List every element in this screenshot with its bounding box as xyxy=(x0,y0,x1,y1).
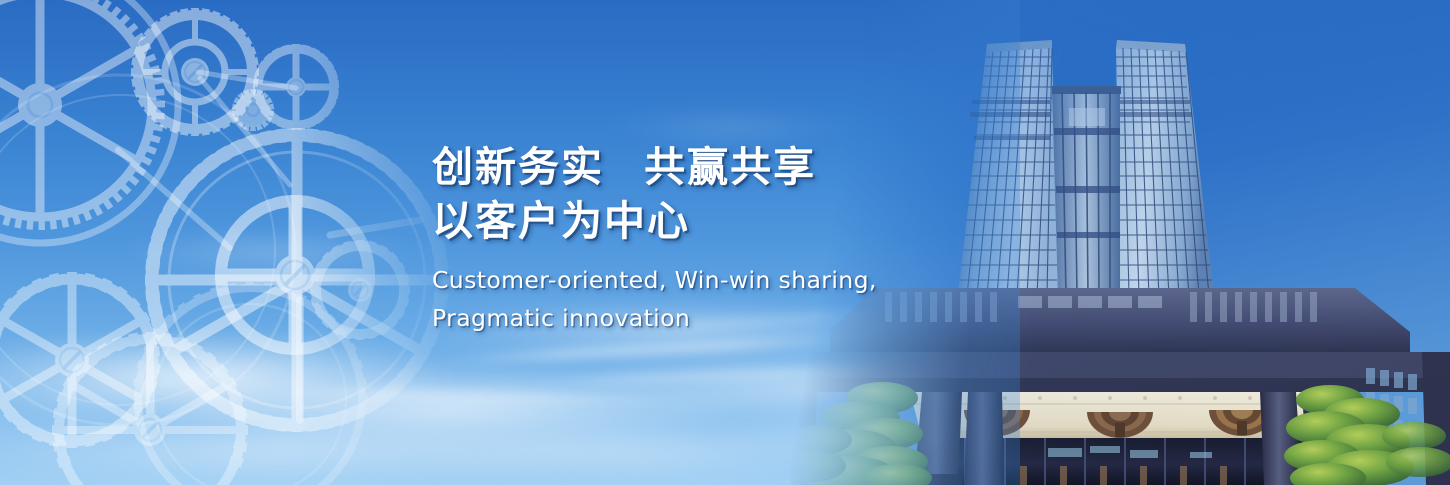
english-subtitle: Customer-oriented, Win-win sharing, Prag… xyxy=(432,261,952,337)
slogan-block: 创新务实 共赢共享 以客户为中心 Customer-oriented, Win-… xyxy=(432,140,952,337)
headline-line-1: 创新务实 共赢共享 xyxy=(432,140,952,194)
hero-banner: 创新务实 共赢共享 以客户为中心 Customer-oriented, Win-… xyxy=(0,0,1450,485)
headline-line-2: 以客户为中心 xyxy=(432,194,952,248)
